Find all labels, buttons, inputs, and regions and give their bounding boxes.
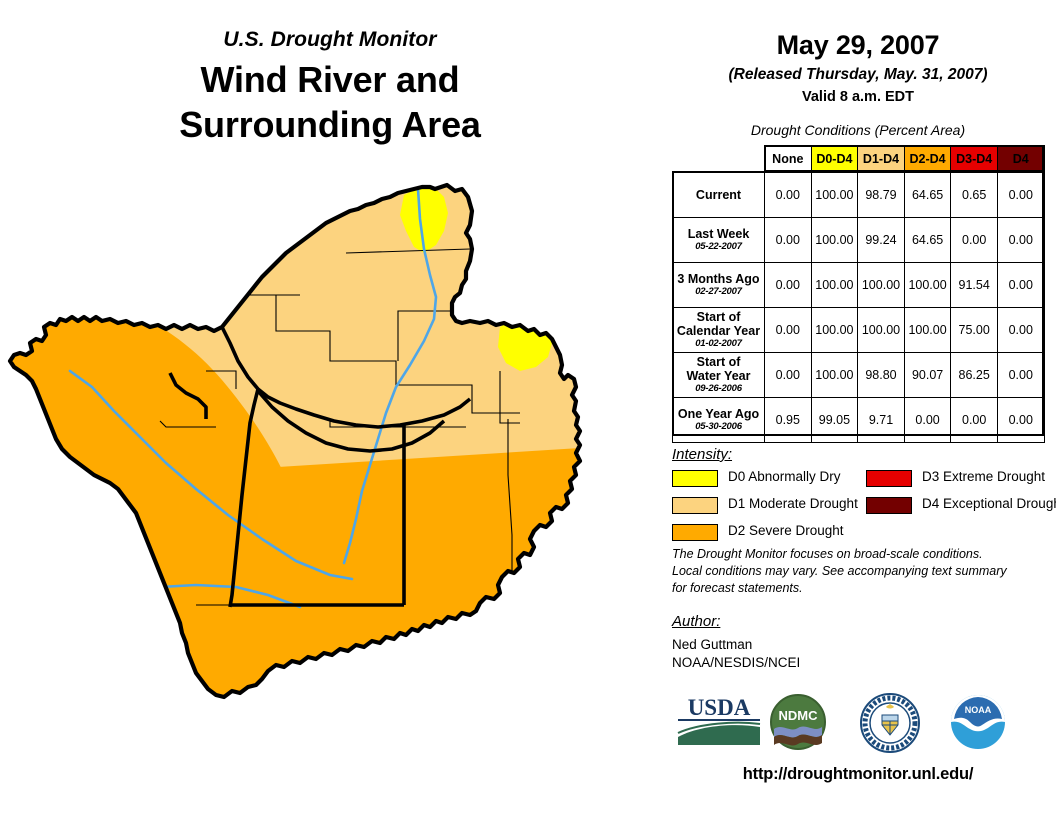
- drought-map[interactable]: [0, 175, 660, 755]
- table-cell-none: 0.95: [765, 398, 812, 443]
- table-cell-d3-d4: 86.25: [951, 353, 998, 398]
- table-cell-d0-d4: 100.00: [811, 263, 858, 308]
- row-label-line: Last Week: [673, 227, 764, 241]
- usda-logo[interactable]: USDA: [674, 693, 764, 756]
- table-row: Current0.00100.0098.7964.650.650.00: [673, 173, 1045, 218]
- row-label: 3 Months Ago02-27-2007: [673, 263, 765, 308]
- table-cell-d0-d4: 100.00: [811, 173, 858, 218]
- column-header-none: None: [765, 146, 812, 173]
- table-cell-d4: 0.00: [997, 398, 1044, 443]
- table-corner-cell: [673, 146, 765, 173]
- table-cell-d2-d4: 64.65: [904, 218, 951, 263]
- table-cell-d4: 0.00: [997, 173, 1044, 218]
- legend-swatch-d2: [672, 524, 718, 541]
- table-cell-d1-d4: 100.00: [858, 263, 905, 308]
- logo-row: USDA NDMC: [660, 693, 1056, 755]
- table-cell-d2-d4: 64.65: [904, 173, 951, 218]
- table-cell-none: 0.00: [765, 308, 812, 353]
- table-row: Start ofWater Year09-26-20060.00100.0098…: [673, 353, 1045, 398]
- row-label: Start ofWater Year09-26-2006: [673, 353, 765, 398]
- row-label-line: Start of: [673, 310, 764, 324]
- table-cell-d1-d4: 98.80: [858, 353, 905, 398]
- row-label: Start ofCalendar Year01-02-2007: [673, 308, 765, 353]
- column-header-d1-d4: D1-D4: [858, 146, 905, 173]
- table-cell-d4: 0.00: [997, 308, 1044, 353]
- legend-swatch-d0: [672, 470, 718, 487]
- table-body: Current0.00100.0098.7964.650.650.00Last …: [673, 173, 1045, 443]
- legend-label-d1: D1 Moderate Drought: [728, 496, 858, 511]
- table-caption: Drought Conditions (Percent Area): [660, 122, 1056, 138]
- table-cell-d1-d4: 100.00: [858, 308, 905, 353]
- noaa-logo[interactable]: NOAA: [948, 693, 1008, 756]
- table-cell-d2-d4: 100.00: [904, 308, 951, 353]
- table-cell-d3-d4: 75.00: [951, 308, 998, 353]
- table-cell-d4: 0.00: [997, 218, 1044, 263]
- table-cell-none: 0.00: [765, 173, 812, 218]
- map-area-d3-south: [434, 627, 490, 645]
- table-cell-d0-d4: 99.05: [811, 398, 858, 443]
- author-name: Ned Guttman: [672, 637, 752, 652]
- drought-monitor-page: U.S. Drought Monitor Wind River and Surr…: [0, 0, 1056, 816]
- valid-time: Valid 8 a.m. EDT: [660, 89, 1056, 105]
- table-cell-d2-d4: 100.00: [904, 263, 951, 308]
- row-label-line: 3 Months Ago: [673, 272, 764, 286]
- row-label: Current: [673, 173, 765, 218]
- ndmc-logo[interactable]: NDMC: [768, 693, 828, 756]
- legend-swatch-d3: [866, 470, 912, 487]
- author-org: NOAA/NESDIS/NCEI: [672, 655, 800, 670]
- legend-label-d4: D4 Exceptional Drought: [922, 496, 1056, 511]
- column-header-d2-d4: D2-D4: [904, 146, 951, 173]
- row-label: Last Week05-22-2007: [673, 218, 765, 263]
- column-header-d4: D4: [997, 146, 1044, 173]
- author-label: Author:: [672, 613, 720, 630]
- table-cell-d0-d4: 100.00: [811, 218, 858, 263]
- website-url[interactable]: http://droughtmonitor.unl.edu/: [660, 765, 1056, 784]
- usda-logo-text: USDA: [688, 695, 751, 720]
- disclaimer-line-1: The Drought Monitor focuses on broad-sca…: [672, 546, 1042, 563]
- row-label-line: Start of: [673, 355, 764, 369]
- row-label-date: 02-27-2007: [673, 287, 764, 298]
- intensity-legend-title: Intensity:: [672, 446, 732, 463]
- table-cell-d4: 0.00: [997, 263, 1044, 308]
- legend-label-d0: D0 Abnormally Dry: [728, 469, 841, 484]
- table-cell-none: 0.00: [765, 353, 812, 398]
- usda-seal-logo[interactable]: [858, 693, 922, 758]
- disclaimer-line-3: for forecast statements.: [672, 580, 1042, 597]
- report-date: May 29, 2007: [660, 30, 1056, 61]
- disclaimer-line-2: Local conditions may vary. See accompany…: [672, 563, 1042, 580]
- table-row: One Year Ago05-30-20060.9599.059.710.000…: [673, 398, 1045, 443]
- released-date: (Released Thursday, May. 31, 2007): [660, 66, 1056, 84]
- map-fill-layer: [0, 175, 660, 755]
- legend-label-d3: D3 Extreme Drought: [922, 469, 1045, 484]
- table-cell-d2-d4: 90.07: [904, 353, 951, 398]
- table-cell-d1-d4: 98.79: [858, 173, 905, 218]
- table-cell-d0-d4: 100.00: [811, 308, 858, 353]
- page-title-line1: Wind River and: [0, 57, 660, 102]
- table-cell-d3-d4: 0.65: [951, 173, 998, 218]
- table-cell-d3-d4: 0.00: [951, 218, 998, 263]
- table-cell-d1-d4: 9.71: [858, 398, 905, 443]
- map-svg[interactable]: [0, 175, 660, 755]
- table-cell-none: 0.00: [765, 218, 812, 263]
- table-cell-d3-d4: 0.00: [951, 398, 998, 443]
- legend-label-d2: D2 Severe Drought: [728, 523, 844, 538]
- table-row: Start ofCalendar Year01-02-20070.00100.0…: [673, 308, 1045, 353]
- row-label-date: 01-02-2007: [673, 339, 764, 350]
- disclaimer-text: The Drought Monitor focuses on broad-sca…: [672, 546, 1042, 596]
- row-label-line: Calendar Year: [673, 324, 764, 338]
- column-header-d0-d4: D0-D4: [811, 146, 858, 173]
- usdm-kicker: U.S. Drought Monitor: [0, 28, 660, 51]
- table-cell-d3-d4: 91.54: [951, 263, 998, 308]
- row-label-line: Water Year: [673, 369, 764, 383]
- title-block: U.S. Drought Monitor Wind River and Surr…: [0, 28, 660, 148]
- row-label-date: 05-22-2007: [673, 242, 764, 253]
- drought-conditions-table: None D0-D4 D1-D4 D2-D4 D3-D4 D4 Current0…: [672, 145, 1045, 443]
- right-panel: May 29, 2007 (Released Thursday, May. 31…: [660, 0, 1056, 816]
- table-row: 3 Months Ago02-27-20070.00100.00100.0010…: [673, 263, 1045, 308]
- row-label-line: Current: [673, 188, 764, 202]
- table-header-row: None D0-D4 D1-D4 D2-D4 D3-D4 D4: [673, 146, 1045, 173]
- table-cell-d4: 0.00: [997, 353, 1044, 398]
- ndmc-logo-text: NDMC: [779, 708, 819, 723]
- page-title: Wind River and Surrounding Area: [0, 57, 660, 148]
- table-cell-none: 0.00: [765, 263, 812, 308]
- legend-swatch-d1: [672, 497, 718, 514]
- column-header-d3-d4: D3-D4: [951, 146, 998, 173]
- row-label-date: 09-26-2006: [673, 384, 764, 395]
- row-label-date: 05-30-2006: [673, 422, 764, 433]
- noaa-logo-text: NOAA: [965, 705, 992, 715]
- row-label: One Year Ago05-30-2006: [673, 398, 765, 443]
- table-row: Last Week05-22-20070.00100.0099.2464.650…: [673, 218, 1045, 263]
- legend-swatch-d4: [866, 497, 912, 514]
- page-title-line2: Surrounding Area: [0, 102, 660, 147]
- table-cell-d0-d4: 100.00: [811, 353, 858, 398]
- table-cell-d1-d4: 99.24: [858, 218, 905, 263]
- table-cell-d2-d4: 0.00: [904, 398, 951, 443]
- row-label-line: One Year Ago: [673, 407, 764, 421]
